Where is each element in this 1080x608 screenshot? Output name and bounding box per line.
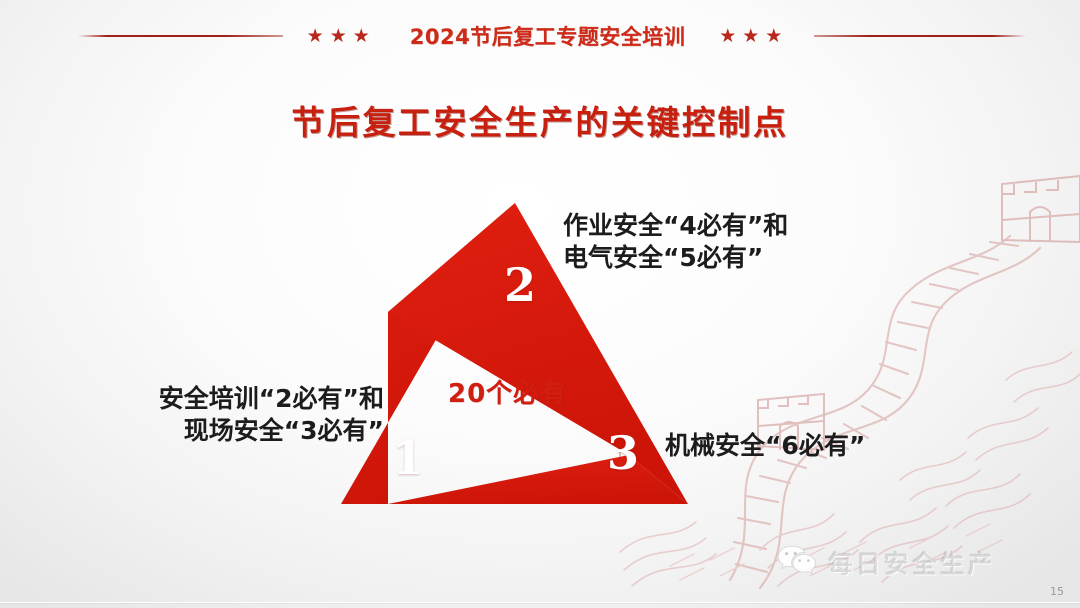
wechat-icon: [777, 544, 817, 582]
slide-header: ★★★ 2024节后复工专题安全培训 ★★★: [0, 0, 1080, 72]
segment-number-3: 3: [607, 430, 639, 476]
callout-left-line2: 现场安全“3必有”: [72, 415, 384, 447]
segment-number-2: 2: [504, 262, 536, 308]
callout-top-right: 作业安全“4必有”和 电气安全“5必有”: [563, 210, 788, 274]
callout-left: 安全培训“2必有”和 现场安全“3必有”: [72, 383, 384, 447]
callout-top-right-line2: 电气安全“5必有”: [563, 242, 788, 274]
callout-left-line1: 安全培训“2必有”和: [72, 383, 384, 415]
wechat-watermark: 每日安全生产: [777, 544, 996, 582]
page-title: 节后复工安全生产的关键控制点: [0, 96, 1080, 144]
callout-top-right-line1: 作业安全“4必有”和: [563, 210, 788, 242]
watermark-text: 每日安全生产: [828, 545, 996, 581]
header-rule-left: [78, 35, 283, 37]
header-rule-right: [814, 35, 1026, 37]
page-number: 15: [1050, 585, 1064, 598]
stars-left-icon: ★★★: [307, 26, 376, 46]
slide-bottom-edge: [0, 602, 1080, 603]
callout-bottom-right: 机械安全“6必有”: [665, 430, 865, 462]
callout-bottom-right-line1: 机械安全“6必有”: [665, 430, 865, 462]
diagram-center-label: 20个必有: [448, 373, 567, 410]
header-title: 2024节后复工专题安全培训: [376, 21, 719, 51]
slide-canvas: ★★★ 2024节后复工专题安全培训 ★★★ 节后复工安全生产的关键控制点: [0, 0, 1080, 608]
stars-right-icon: ★★★: [719, 26, 788, 46]
segment-number-1: 1: [392, 435, 424, 481]
